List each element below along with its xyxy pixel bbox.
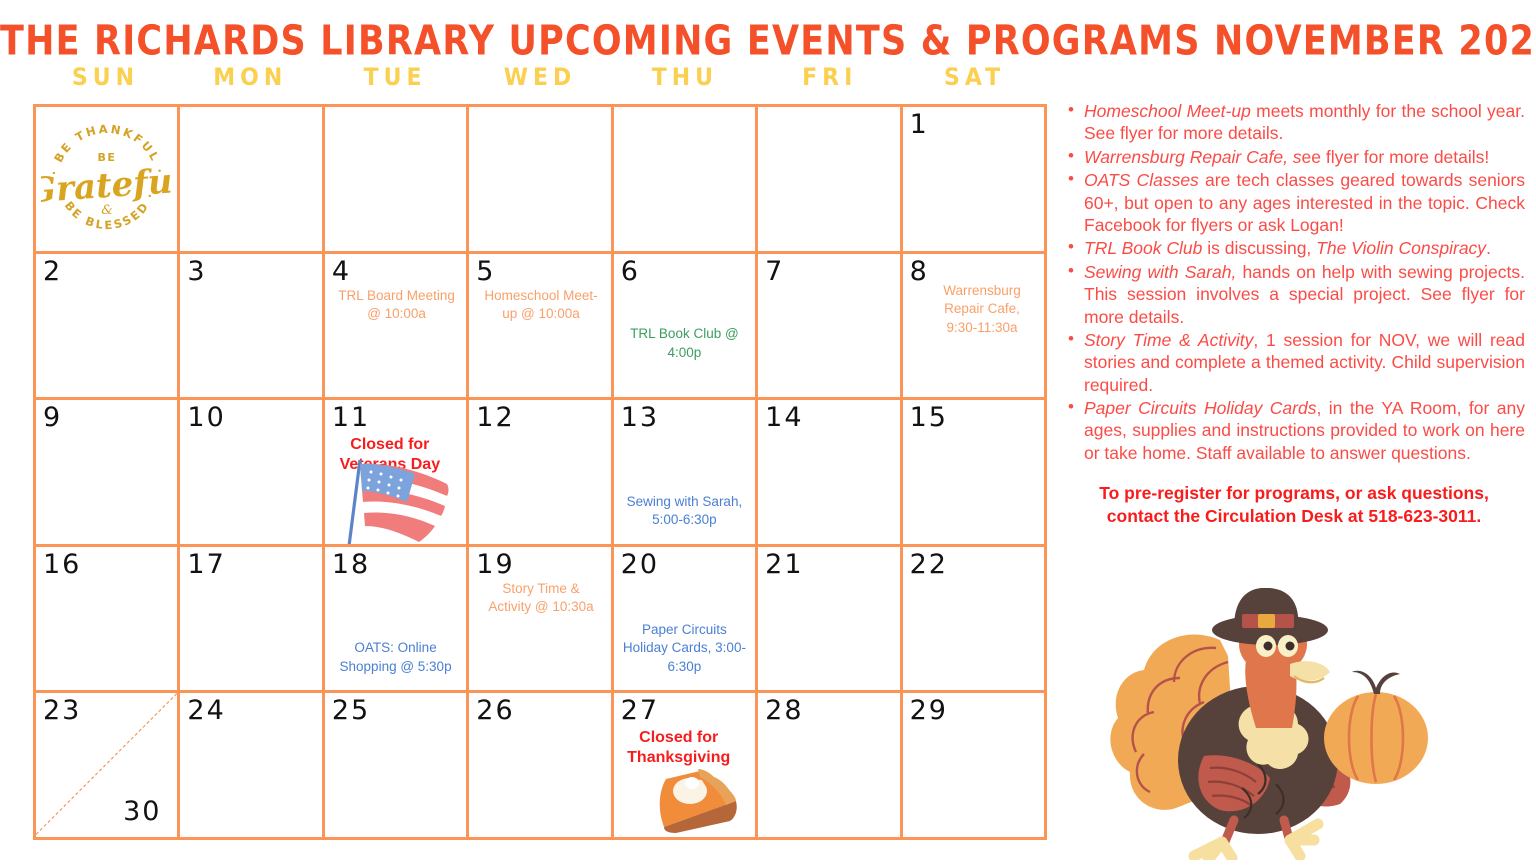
american-flag-icon — [341, 456, 459, 547]
event-text: Paper Circuits Holiday Cards, 3:00- 6:30… — [618, 621, 751, 677]
day-number: 29 — [910, 697, 948, 724]
calendar-day-13[interactable]: 13Sewing with Sarah, 5:00-6:30p — [614, 400, 758, 547]
calendar-day-7[interactable]: 7 — [758, 254, 902, 401]
day-number: 25 — [332, 697, 370, 724]
weekday-header-fri: FRI — [757, 64, 902, 101]
day-number: 22 — [910, 551, 948, 578]
calendar-day-11[interactable]: 11Closed for Veterans Day — [325, 400, 469, 547]
calendar-day-12[interactable]: 12 — [469, 400, 613, 547]
notes-panel: Homeschool Meet-up meets monthly for the… — [1063, 100, 1525, 528]
program-note-body-2: . — [1486, 238, 1491, 258]
day-number: 17 — [187, 551, 225, 578]
day-number: 1 — [910, 111, 929, 138]
day-number: 21 — [765, 551, 803, 578]
calendar-day-26[interactable]: 26 — [469, 693, 613, 840]
calendar-day-empty[interactable]: · BE THANKFUL · · BE BLESSED · BE Gratef… — [36, 107, 180, 254]
program-note-item: TRL Book Club is discussing, The Violin … — [1063, 237, 1525, 259]
weekday-header-tue: TUE — [323, 64, 468, 101]
calendar-day-1[interactable]: 1 — [903, 107, 1047, 254]
calendar-day-21[interactable]: 21 — [758, 547, 902, 694]
calendar-day-empty[interactable] — [180, 107, 324, 254]
program-note-body: ee flyer for more details! — [1302, 147, 1490, 167]
program-note-title-2: The Violin Conspiracy — [1316, 238, 1486, 258]
calendar-day-10[interactable]: 10 — [180, 400, 324, 547]
day-number: 12 — [476, 404, 514, 431]
program-note-title: Sewing with Sarah, — [1084, 262, 1236, 282]
event-text: Sewing with Sarah, 5:00-6:30p — [618, 493, 751, 530]
event-text: TRL Book Club @ 4:00p — [620, 325, 749, 362]
calendar-day-3[interactable]: 3 — [180, 254, 324, 401]
weekday-header-row: SUNMONTUEWEDTHUFRISAT — [33, 66, 1047, 100]
program-note-item: Story Time & Activity, 1 session for NOV… — [1063, 329, 1525, 396]
weekday-header-wed: WED — [468, 64, 613, 101]
day-number: 9 — [43, 404, 62, 431]
day-number: 28 — [765, 697, 803, 724]
calendar-grid: · BE THANKFUL · · BE BLESSED · BE Gratef… — [33, 104, 1047, 840]
day-number: 16 — [43, 551, 81, 578]
program-note-title: Story Time & Activity — [1084, 330, 1253, 350]
program-note-title: Paper Circuits Holiday Cards — [1084, 398, 1316, 418]
weekday-header-sun: SUN — [33, 64, 178, 101]
calendar-day-17[interactable]: 17 — [180, 547, 324, 694]
program-note-item: Sewing with Sarah, hands on help with se… — [1063, 261, 1525, 328]
weekday-header-mon: MON — [178, 64, 323, 101]
calendar-day-15[interactable]: 15 — [903, 400, 1047, 547]
event-text: OATS: Online Shopping @ 5:30p — [329, 639, 462, 676]
program-note-title: TRL Book Club — [1084, 238, 1202, 258]
calendar-day-25[interactable]: 25 — [325, 693, 469, 840]
calendar-day-empty[interactable] — [325, 107, 469, 254]
day-number: 24 — [187, 697, 225, 724]
calendar-day-28[interactable]: 28 — [758, 693, 902, 840]
day-number: 5 — [476, 258, 495, 285]
event-text: Warrensburg Repair Cafe, 9:30-11:30a — [928, 282, 1036, 338]
day-number: 11 — [332, 404, 370, 431]
day-number: 2 — [43, 258, 62, 285]
day-number: 20 — [621, 551, 659, 578]
event-text: Story Time & Activity @ 10:30a — [480, 580, 601, 617]
calendar-day-19[interactable]: 19Story Time & Activity @ 10:30a — [469, 547, 613, 694]
day-number: 10 — [187, 404, 225, 431]
calendar-day-9[interactable]: 9 — [36, 400, 180, 547]
day-number: 23 — [43, 697, 81, 724]
calendar-day-6[interactable]: 6TRL Book Club @ 4:00p — [614, 254, 758, 401]
calendar-day-27[interactable]: 27Closed for Thanksgiving — [614, 693, 758, 840]
calendar-day-5[interactable]: 5Homeschool Meet-up @ 10:00a — [469, 254, 613, 401]
svg-text:BE: BE — [97, 151, 116, 164]
event-text: TRL Board Meeting @ 10:00a — [336, 287, 457, 324]
calendar-day-4[interactable]: 4TRL Board Meeting @ 10:00a — [325, 254, 469, 401]
be-grateful-badge: · BE THANKFUL · · BE BLESSED · BE Gratef… — [41, 113, 173, 245]
calendar-day-2[interactable]: 2 — [36, 254, 180, 401]
day-number: 4 — [332, 258, 351, 285]
calendar-day-23[interactable]: 2330 — [36, 693, 180, 840]
program-note-title: OATS Classes — [1084, 170, 1199, 190]
day-number: 3 — [187, 258, 206, 285]
program-note-item: Homeschool Meet-up meets monthly for the… — [1063, 100, 1525, 145]
contact-note: To pre-register for programs, or ask que… — [1063, 482, 1525, 528]
event-text: Closed for Thanksgiving — [623, 728, 735, 767]
program-notes-list: Homeschool Meet-up meets monthly for the… — [1063, 100, 1525, 464]
calendar-day-18[interactable]: 18OATS: Online Shopping @ 5:30p — [325, 547, 469, 694]
program-note-item: Warrensburg Repair Cafe, see flyer for m… — [1063, 146, 1525, 168]
day-number: 7 — [765, 258, 784, 285]
program-note-title: Warrensburg Repair Cafe, s — [1084, 147, 1302, 167]
day-number: 6 — [621, 258, 640, 285]
event-text: Homeschool Meet-up @ 10:00a — [480, 287, 601, 324]
day-number: 13 — [621, 404, 659, 431]
calendar-day-8[interactable]: 8Warrensburg Repair Cafe, 9:30-11:30a — [903, 254, 1047, 401]
calendar-day-16[interactable]: 16 — [36, 547, 180, 694]
day-number: 18 — [332, 551, 370, 578]
calendar-day-22[interactable]: 22 — [903, 547, 1047, 694]
pumpkin-pie-icon — [648, 765, 744, 835]
weekday-header-thu: THU — [612, 64, 757, 101]
weekday-header-sat: SAT — [902, 64, 1047, 101]
day-number-second: 30 — [123, 798, 161, 825]
calendar-day-empty[interactable] — [469, 107, 613, 254]
svg-text:&: & — [101, 203, 113, 218]
day-number: 15 — [910, 404, 948, 431]
calendar-day-empty[interactable] — [614, 107, 758, 254]
thanksgiving-turkey-illustration — [1108, 588, 1448, 860]
calendar-day-empty[interactable] — [758, 107, 902, 254]
day-number: 27 — [621, 697, 659, 724]
day-number: 14 — [765, 404, 803, 431]
calendar-day-14[interactable]: 14 — [758, 400, 902, 547]
calendar-day-24[interactable]: 24 — [180, 693, 324, 840]
day-number: 19 — [476, 551, 514, 578]
page-title: THE RICHARDS LIBRARY UPCOMING EVENTS & P… — [0, 18, 1536, 65]
program-note-item: OATS Classes are tech classes geared tow… — [1063, 169, 1525, 236]
calendar-day-29[interactable]: 29 — [903, 693, 1047, 840]
program-note-title: Homeschool Meet-up — [1084, 101, 1251, 121]
program-note-item: Paper Circuits Holiday Cards, in the YA … — [1063, 397, 1525, 464]
day-number: 26 — [476, 697, 514, 724]
day-number: 8 — [910, 258, 929, 285]
program-note-body: is discussing, — [1202, 238, 1316, 258]
calendar-day-20[interactable]: 20Paper Circuits Holiday Cards, 3:00- 6:… — [614, 547, 758, 694]
